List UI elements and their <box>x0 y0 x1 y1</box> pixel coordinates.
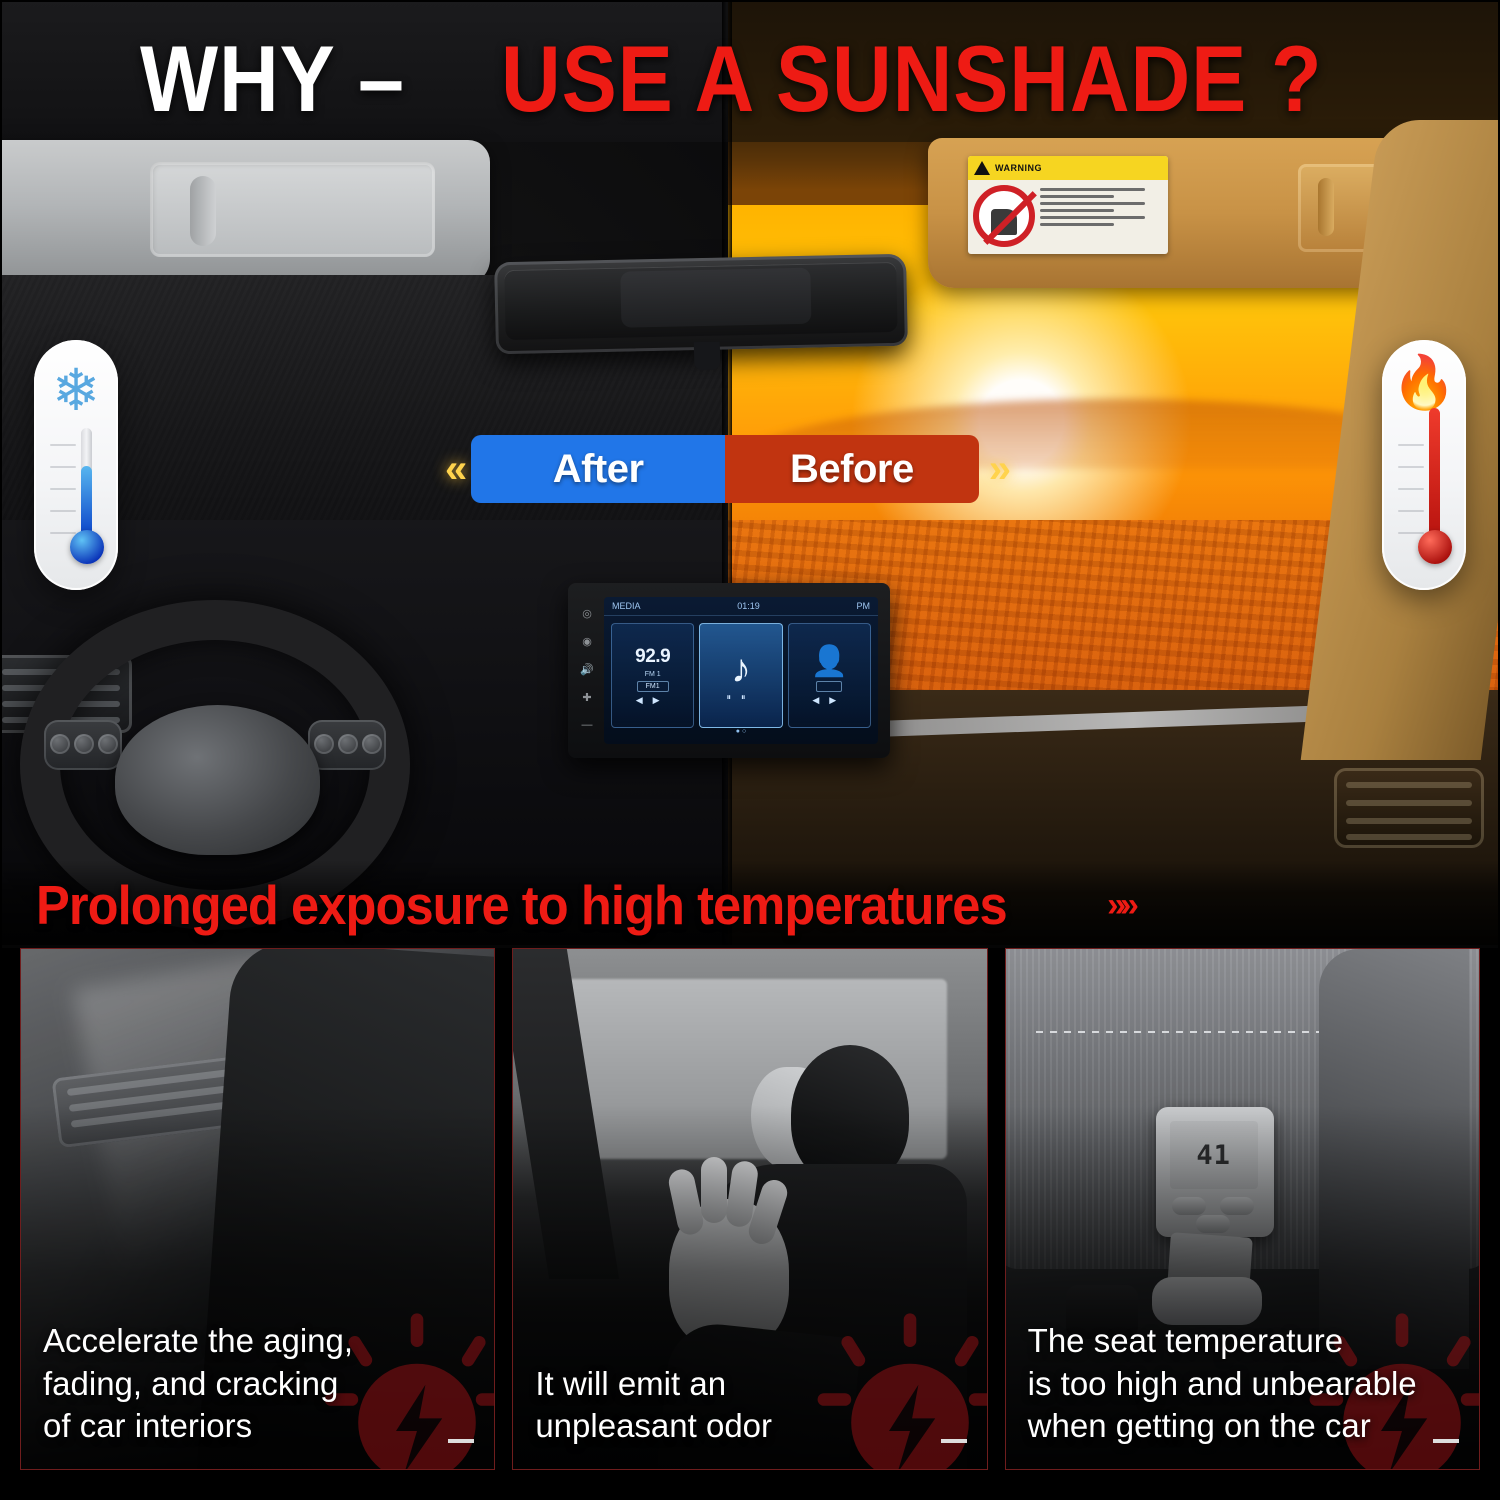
chevron-left-icon: « <box>445 449 461 489</box>
warning-heading: WARNING <box>995 163 1042 173</box>
warning-triangle-icon <box>974 161 990 175</box>
airbag-warning-label: WARNING <box>968 156 1168 254</box>
hot-thermometer: 🔥 <box>1382 340 1466 590</box>
flame-icon: 🔥 <box>1392 354 1457 412</box>
volume-button-icon[interactable]: 🔊 <box>580 663 594 676</box>
panel-unpleasant-odor[interactable]: It will emit an unpleasant odor <box>512 948 987 1470</box>
thermometer-fill-hot <box>1429 408 1440 536</box>
thermometer-bulb-cold <box>70 530 104 564</box>
radio-preset[interactable]: FM1 <box>637 681 669 692</box>
radio-band: FM 1 <box>645 671 661 678</box>
text-cursor-mark <box>941 1439 967 1443</box>
text-cursor-mark <box>1433 1439 1459 1443</box>
infotainment-head-unit[interactable]: ◎ ◉ 🔊 ✚ — MEDIA 01:19 PM 92.9 FM 1 FM1 <box>568 583 890 758</box>
air-vent-right <box>1334 768 1484 848</box>
panel-caption: The seat temperature is too high and unb… <box>1028 1320 1461 1447</box>
power-button-icon[interactable]: ◉ <box>582 635 592 648</box>
screen-status-bar: MEDIA 01:19 PM <box>604 597 878 616</box>
sun-visor-gray <box>0 140 490 285</box>
clock-suffix: PM <box>856 601 870 611</box>
no-child-seat-icon <box>973 185 1035 247</box>
warning-label-body <box>968 180 1168 252</box>
sunshade-infographic-poster: WARNING <box>0 0 1500 1500</box>
panel-caption: It will emit an unpleasant odor <box>535 1363 968 1447</box>
head-unit-side-buttons[interactable]: ◎ ◉ 🔊 ✚ — <box>576 599 598 739</box>
before-pill[interactable]: Before <box>725 435 979 503</box>
thermometer-bulb-hot <box>1418 530 1452 564</box>
thermometer-fill-cold <box>81 466 92 536</box>
minus-button-icon[interactable]: — <box>582 719 593 731</box>
banner-arrows-icon: »» <box>1107 886 1133 925</box>
toggle-pill-group[interactable]: After Before <box>471 435 979 503</box>
panel-interior-aging[interactable]: Accelerate the aging, fading, and cracki… <box>20 948 495 1470</box>
banner-text: Prolonged exposure to high temperatures <box>36 873 1007 937</box>
mirror-stem <box>694 342 721 371</box>
title-white-part: WHY – <box>140 32 405 126</box>
page-title: WHY – USE A SUNSHADE ? <box>0 24 1500 134</box>
home-button-icon[interactable]: ◎ <box>582 607 592 620</box>
rearview-mirror <box>494 254 908 355</box>
settings-button-icon[interactable]: ✚ <box>582 691 591 704</box>
prolonged-exposure-banner: Prolonged exposure to high temperatures … <box>0 860 1500 945</box>
profile-card[interactable]: 👤 ◀▶ <box>788 623 871 728</box>
snowflake-icon: ❄ <box>52 362 101 420</box>
consequences-panel-strip: Accelerate the aging, fading, and cracki… <box>0 948 1500 1500</box>
airbag-hub <box>115 705 320 855</box>
radio-seek-controls[interactable]: ◀▶ <box>636 695 670 706</box>
warning-text-lines <box>1040 185 1163 247</box>
music-card[interactable]: ♪ ⏸⏸ <box>699 623 782 728</box>
profile-subtitle <box>816 681 842 692</box>
profile-nav-controls[interactable]: ◀▶ <box>812 695 846 706</box>
media-source-label: MEDIA <box>612 601 641 611</box>
warning-label-header: WARNING <box>968 156 1168 180</box>
radio-card[interactable]: 92.9 FM 1 FM1 ◀▶ <box>611 623 694 728</box>
before-after-hero: WARNING <box>0 0 1500 945</box>
cold-thermometer: ❄ <box>34 340 118 590</box>
panel-caption: Accelerate the aging, fading, and cracki… <box>43 1320 476 1447</box>
text-cursor-mark <box>448 1439 474 1443</box>
mirror-reflection-headrest <box>620 268 811 328</box>
clock-label: 01:19 <box>737 601 760 611</box>
steering-control-right <box>308 720 386 770</box>
panel-hot-seat[interactable]: 41 <box>1005 948 1480 1470</box>
title-red-part: USE A SUNSHADE ? <box>501 32 1322 126</box>
before-after-toggle: « After Before » <box>445 432 1005 506</box>
person-icon: 👤 <box>811 646 848 678</box>
radio-frequency: 92.9 <box>635 646 670 668</box>
screen-card-row: 92.9 FM 1 FM1 ◀▶ ♪ ⏸⏸ 👤 ◀▶ <box>604 616 878 728</box>
screen-page-dots[interactable]: ● ○ <box>604 728 878 735</box>
after-pill[interactable]: After <box>471 435 725 503</box>
chevron-right-icon: » <box>989 449 1005 489</box>
head-unit-screen[interactable]: MEDIA 01:19 PM 92.9 FM 1 FM1 ◀▶ ♪ ⏸⏸ <box>604 597 878 744</box>
music-transport-controls[interactable]: ⏸⏸ <box>726 692 755 703</box>
steering-control-left <box>44 720 122 770</box>
music-note-icon: ♪ <box>731 649 751 689</box>
